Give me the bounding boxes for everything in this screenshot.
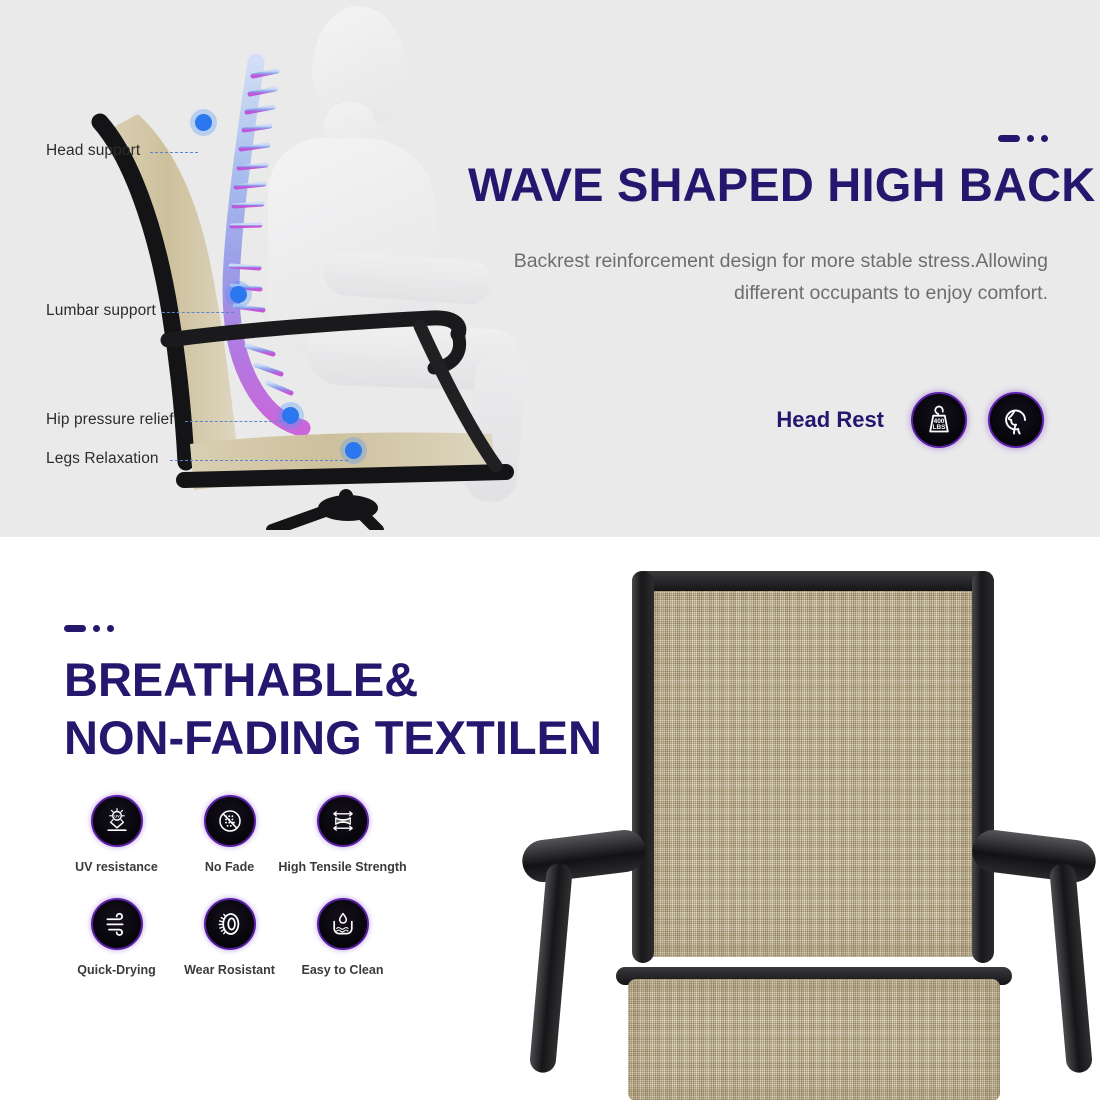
wind-dry-icon [101,908,133,940]
chair-seat-mesh [628,979,1000,1100]
section-textilene: BREATHABLE& NON-FADING TEXTILEN UV UV re… [0,537,1100,1100]
chair-arm-post-left [529,862,573,1073]
feature-uv-resistance[interactable]: UV UV resistance [60,795,173,874]
section-body-text: Backrest reinforcement design for more s… [468,246,1048,310]
hotspot-dot-head-support [195,114,212,131]
badge-head-support[interactable] [988,392,1044,448]
feature-badge [317,898,369,950]
chair-back-post-left [632,571,654,963]
decorator-dot [107,625,114,632]
section-heading: WAVE SHAPED HIGH BACK [468,160,1048,210]
headrest-label: Head Rest [776,407,884,433]
uv-sun-icon: UV [101,805,133,837]
feature-label: No Fade [205,860,254,874]
annotation-hip-relief: Hip pressure relief [46,411,174,429]
leader-line-head-support [150,152,198,153]
wear-tire-icon [214,908,246,940]
no-fade-icon [214,805,246,837]
decorator-dash [64,625,86,632]
feature-badge [317,795,369,847]
feature-icon-grid: UV UV resistance [60,795,399,977]
leader-line-hip-relief [185,421,287,422]
svg-text:LBS: LBS [933,424,947,431]
feature-badge [204,898,256,950]
badge-weight-capacity[interactable]: 400 LBS [911,392,967,448]
feature-wear-resistant[interactable]: Wear Rosistant [173,898,286,977]
feature-badge [204,795,256,847]
annotation-label: Hip pressure relief [46,411,174,428]
chair-arm-post-right [1049,862,1093,1073]
feature-high-tensile-strength[interactable]: High Tensile Strength [286,795,399,874]
head-profile-icon [998,402,1034,438]
leader-line-lumbar-support [162,312,234,313]
annotation-label: Lumbar support [46,302,156,319]
chair-front-view-image [520,567,1100,1100]
decorator-dash-dot-top [468,135,1048,142]
decorator-dot [1041,135,1048,142]
feature-label: Wear Rosistant [184,963,275,977]
decorator-dot [1027,135,1034,142]
headrest-badge-row: Head Rest 400 LBS [776,392,1044,448]
section-ergonomics: Head support Lumbar support Hip pressure… [0,0,1100,537]
chair-armrest-left [520,828,648,885]
feature-badge [91,898,143,950]
feature-label: UV resistance [75,860,158,874]
hotspot-dot-lumbar-support [230,286,247,303]
decorator-dash [998,135,1020,142]
svg-text:UV: UV [114,814,120,819]
annotation-legs-relaxation: Legs Relaxation [46,450,159,468]
tensile-arrows-icon [327,805,359,837]
weight-400lbs-icon: 400 LBS [921,402,957,438]
ergonomics-text-block: WAVE SHAPED HIGH BACK Backrest reinforce… [468,135,1048,309]
feature-label: Quick-Drying [77,963,156,977]
chair-back-top-rail [632,571,994,591]
decorator-dot [93,625,100,632]
hotspot-dot-legs-relaxation [345,442,362,459]
feature-badge: UV [91,795,143,847]
annotation-head-support: Head support [46,142,140,160]
feature-quick-drying[interactable]: Quick-Drying [60,898,173,977]
feature-label: Easy to Clean [302,963,384,977]
feature-no-fade[interactable]: No Fade [173,795,286,874]
leader-line-legs-relaxation [170,460,348,461]
chair-backrest-mesh [648,575,978,957]
feature-easy-to-clean[interactable]: Easy to Clean [286,898,399,977]
chair-back-post-right [972,571,994,963]
annotation-label: Legs Relaxation [46,450,159,467]
annotation-label: Head support [46,142,140,159]
water-basin-icon [327,908,359,940]
annotation-lumbar-support: Lumbar support [46,302,156,320]
feature-label: High Tensile Strength [278,860,406,874]
